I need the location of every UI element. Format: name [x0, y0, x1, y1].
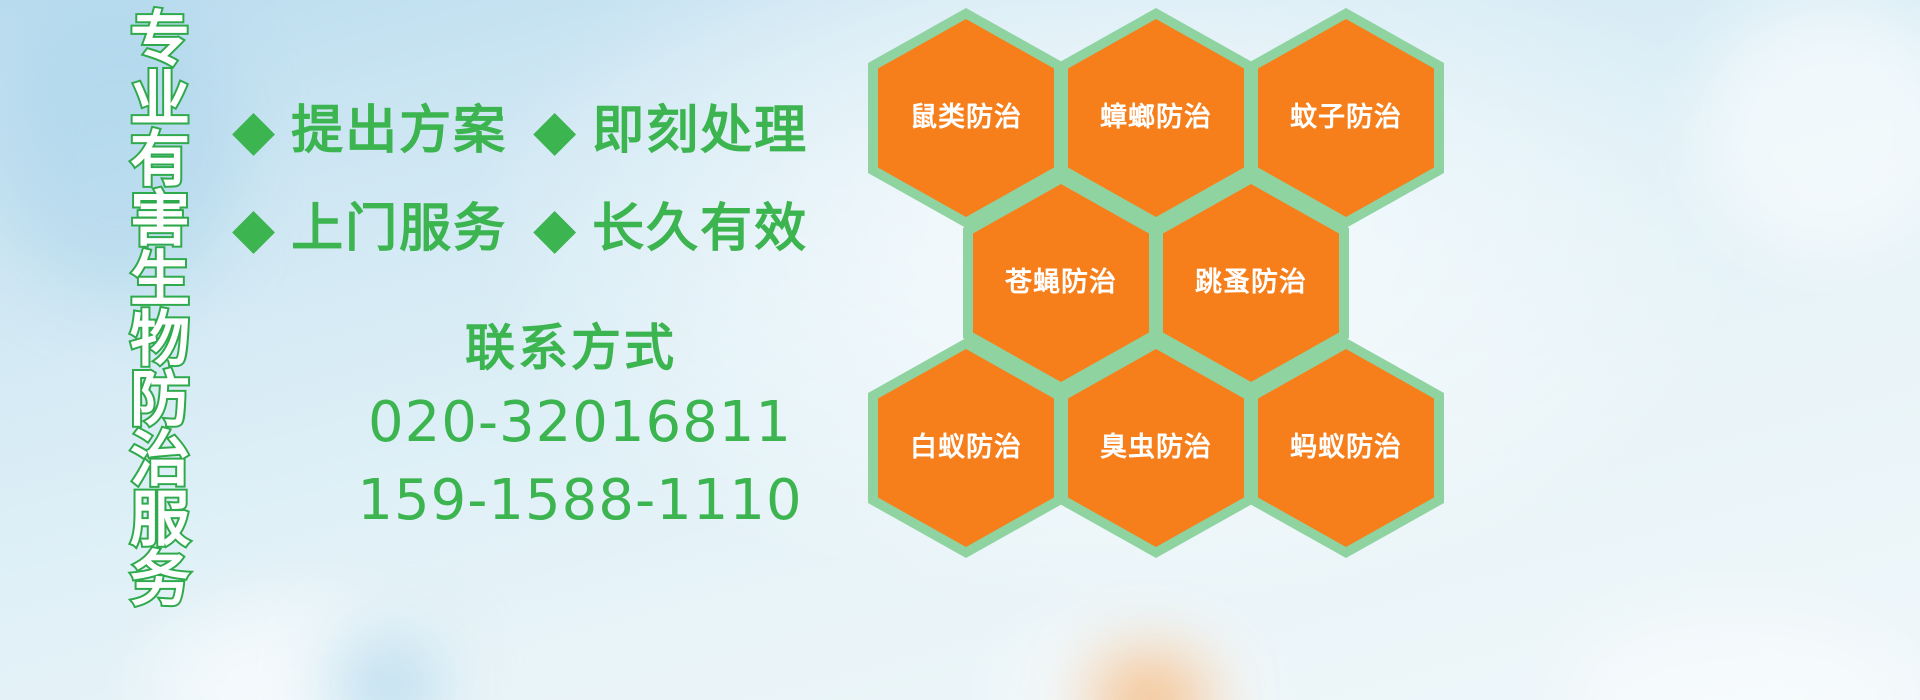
feature-item-immediate-handling: ◆ 即刻处理: [533, 102, 808, 160]
vertical-headline-char: 服: [130, 490, 190, 550]
service-label: 蚊子防治: [1290, 102, 1402, 134]
service-label: 跳蚤防治: [1195, 267, 1307, 299]
service-label: 苍蝇防治: [1005, 267, 1117, 299]
vertical-headline-char: 专: [130, 10, 190, 70]
feature-item-long-lasting: ◆ 长久有效: [533, 200, 808, 258]
vertical-headline: 专 业 有 害 生 物 防 治 服 务: [108, 10, 212, 570]
feature-label: 长久有效: [592, 200, 808, 258]
phone-number-mobile[interactable]: 159-1588-1110: [300, 462, 860, 540]
vertical-headline-char: 生: [130, 250, 190, 310]
pest-control-banner: 专 业 有 害 生 物 防 治 服 务 ◆ 提出方案 ◆ 即刻处理 ◆ 上门服务: [0, 0, 1920, 700]
background-blur-blob: [330, 630, 450, 700]
service-label: 鼠类防治: [910, 102, 1022, 134]
background-blur-blob: [1090, 655, 1210, 700]
feature-label: 上门服务: [291, 200, 507, 258]
hex-inner: 蚊子防治: [1258, 19, 1434, 217]
hex-inner: 蚂蚁防治: [1258, 349, 1434, 547]
vertical-headline-char: 有: [130, 130, 190, 190]
vertical-headline-char: 防: [130, 370, 190, 430]
diamond-bullet-icon: ◆: [232, 103, 275, 159]
vertical-headline-char: 务: [130, 550, 190, 610]
feature-row: ◆ 提出方案 ◆ 即刻处理: [232, 82, 862, 180]
vertical-headline-char: 物: [130, 310, 190, 370]
hex-inner: 鼠类防治: [878, 19, 1054, 217]
feature-item-onsite-service: ◆ 上门服务: [232, 200, 507, 258]
diamond-bullet-icon: ◆: [533, 103, 576, 159]
feature-label: 提出方案: [291, 102, 507, 160]
feature-list: ◆ 提出方案 ◆ 即刻处理 ◆ 上门服务 ◆ 长久有效: [232, 82, 862, 278]
background-blur-blob: [1560, 610, 1920, 700]
background-blur-blob: [150, 600, 470, 700]
vertical-headline-char: 治: [130, 430, 190, 490]
service-label: 蚂蚁防治: [1290, 432, 1402, 464]
background-blur-blob: [1000, 620, 1260, 700]
hex-inner: 臭虫防治: [1068, 349, 1244, 547]
diamond-bullet-icon: ◆: [533, 201, 576, 257]
contact-title: 联系方式: [282, 312, 860, 384]
vertical-headline-char: 业: [130, 70, 190, 130]
hex-inner: 跳蚤防治: [1163, 184, 1339, 382]
hex-inner: 白蚁防治: [878, 349, 1054, 547]
service-label: 臭虫防治: [1100, 432, 1212, 464]
service-label: 白蚁防治: [910, 432, 1022, 464]
service-label: 蟑螂防治: [1100, 102, 1212, 134]
feature-row: ◆ 上门服务 ◆ 长久有效: [232, 180, 862, 278]
service-hexagon-grid: 鼠类防治 蟑螂防治 蚊子防治 苍蝇防治 跳蚤防治 白蚁防治: [860, 0, 1460, 560]
hex-inner: 苍蝇防治: [973, 184, 1149, 382]
feature-label: 即刻处理: [592, 102, 808, 160]
hex-inner: 蟑螂防治: [1068, 19, 1244, 217]
vertical-headline-char: 害: [130, 190, 190, 250]
diamond-bullet-icon: ◆: [232, 201, 275, 257]
contact-block: 联系方式 020-32016811 159-1588-1110: [300, 312, 860, 540]
feature-item-propose-plan: ◆ 提出方案: [232, 102, 507, 160]
background-blur-blob: [1700, 0, 1920, 260]
phone-number-landline[interactable]: 020-32016811: [300, 384, 860, 462]
